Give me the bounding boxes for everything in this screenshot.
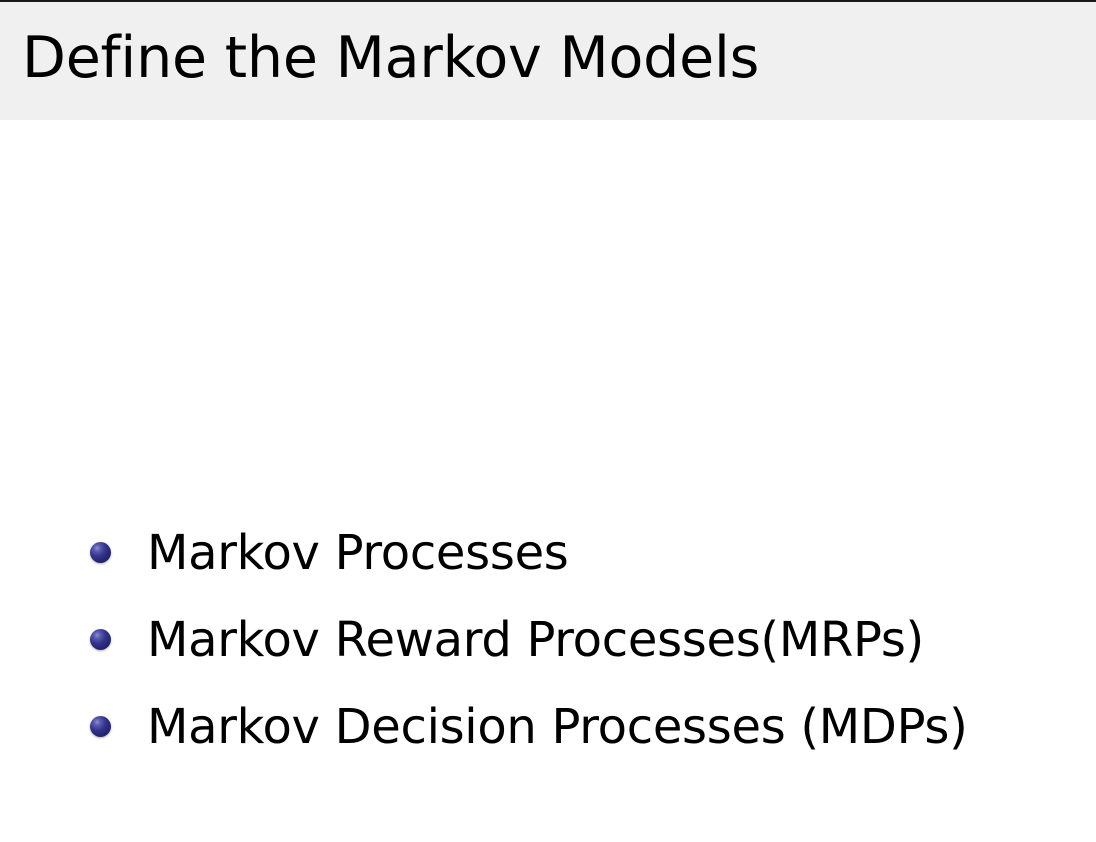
slide-title-bar: Define the Markov Models [0,2,1096,120]
sphere-bullet-icon [90,716,111,737]
list-item-label: Markov Processes [147,524,569,582]
list-item: Markov Decision Processes (MDPs) [0,683,1096,770]
list-item-label: Markov Decision Processes (MDPs) [147,698,968,756]
sphere-bullet-icon [90,542,111,563]
list-item: Markov Reward Processes(MRPs) [0,596,1096,683]
page-title: Define the Markov Models [22,16,759,100]
bullet-list: Markov Processes Markov Reward Processes… [0,509,1096,770]
slide-body: Markov Processes Markov Reward Processes… [0,120,1096,842]
list-item-label: Markov Reward Processes(MRPs) [147,611,924,669]
list-item: Markov Processes [0,509,1096,596]
presentation-slide: Define the Markov Models Markov Processe… [0,0,1096,842]
sphere-bullet-icon [90,629,111,650]
